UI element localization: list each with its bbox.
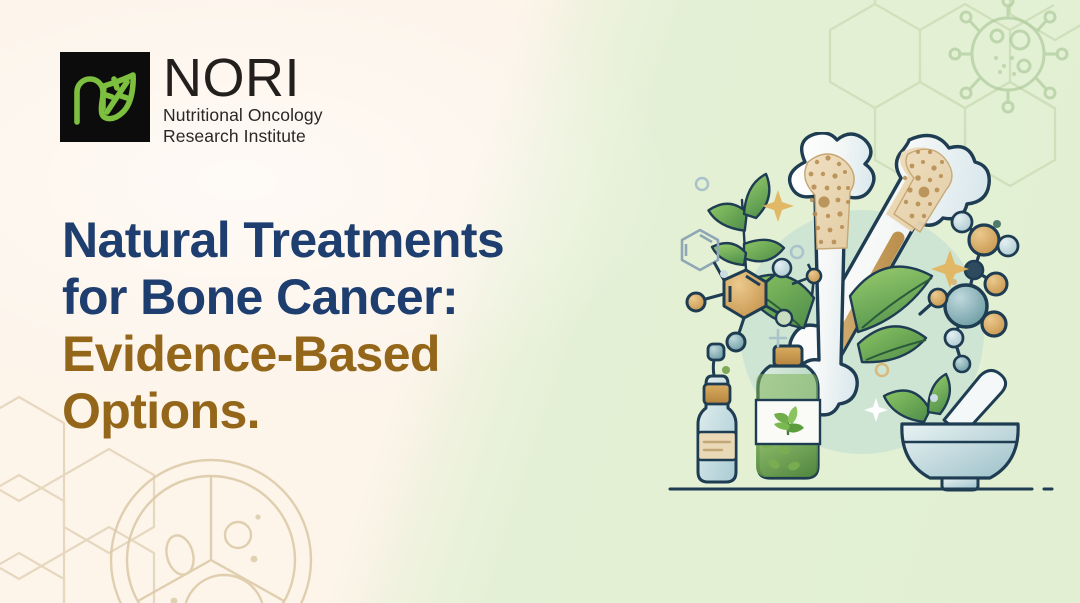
atom-node [945,329,963,347]
hero-illustration [662,132,1066,500]
headline-line-1: Natural Treatments [62,212,682,269]
atom-node [952,212,972,232]
headline-line-3: Evidence-Based [62,326,682,383]
accent-dot [930,394,938,402]
atom-node [773,259,791,277]
mortar-bowl [902,424,1018,478]
dropper-bulb [708,344,724,360]
atom-node [687,293,705,311]
accent-dot [696,178,708,190]
brand-logo[interactable]: NORI Nutritional Oncology Research Insti… [60,52,323,147]
accent-dot [722,366,730,374]
atom-node [982,312,1006,336]
atom-node [965,261,983,279]
dropper-cap [704,384,730,404]
atom-node [985,273,1007,295]
hero-illustration-svg [662,132,1066,500]
atom-node [969,225,999,255]
banner-root: NORI Nutritional Oncology Research Insti… [0,0,1080,603]
atom-node [776,310,792,326]
brand-tagline-line1: Nutritional Oncology [163,106,323,126]
brand-text: NORI Nutritional Oncology Research Insti… [163,52,323,147]
brand-tagline-line2: Research Institute [163,127,323,147]
accent-dot [993,220,1001,228]
brand-wordmark: NORI [163,54,323,104]
leaf-n-monogram-icon [60,52,150,142]
atom-node [727,333,745,351]
dropper-label [698,432,736,460]
accent-dot [720,270,728,278]
dropper-bottle [698,344,736,482]
headline-line-2: for Bone Cancer: [62,269,682,326]
logo-leaf-glyph [71,66,139,128]
jar-cap [774,346,802,366]
atom-node [998,236,1018,256]
atom-node [954,356,970,372]
atom-node [929,289,947,307]
atom-node [807,269,821,283]
headline-block: Natural Treatments for Bone Cancer: Evid… [62,212,682,440]
atom-node-large [945,285,987,327]
headline-line-4: Options. [62,383,682,440]
accent-dot [951,279,957,285]
